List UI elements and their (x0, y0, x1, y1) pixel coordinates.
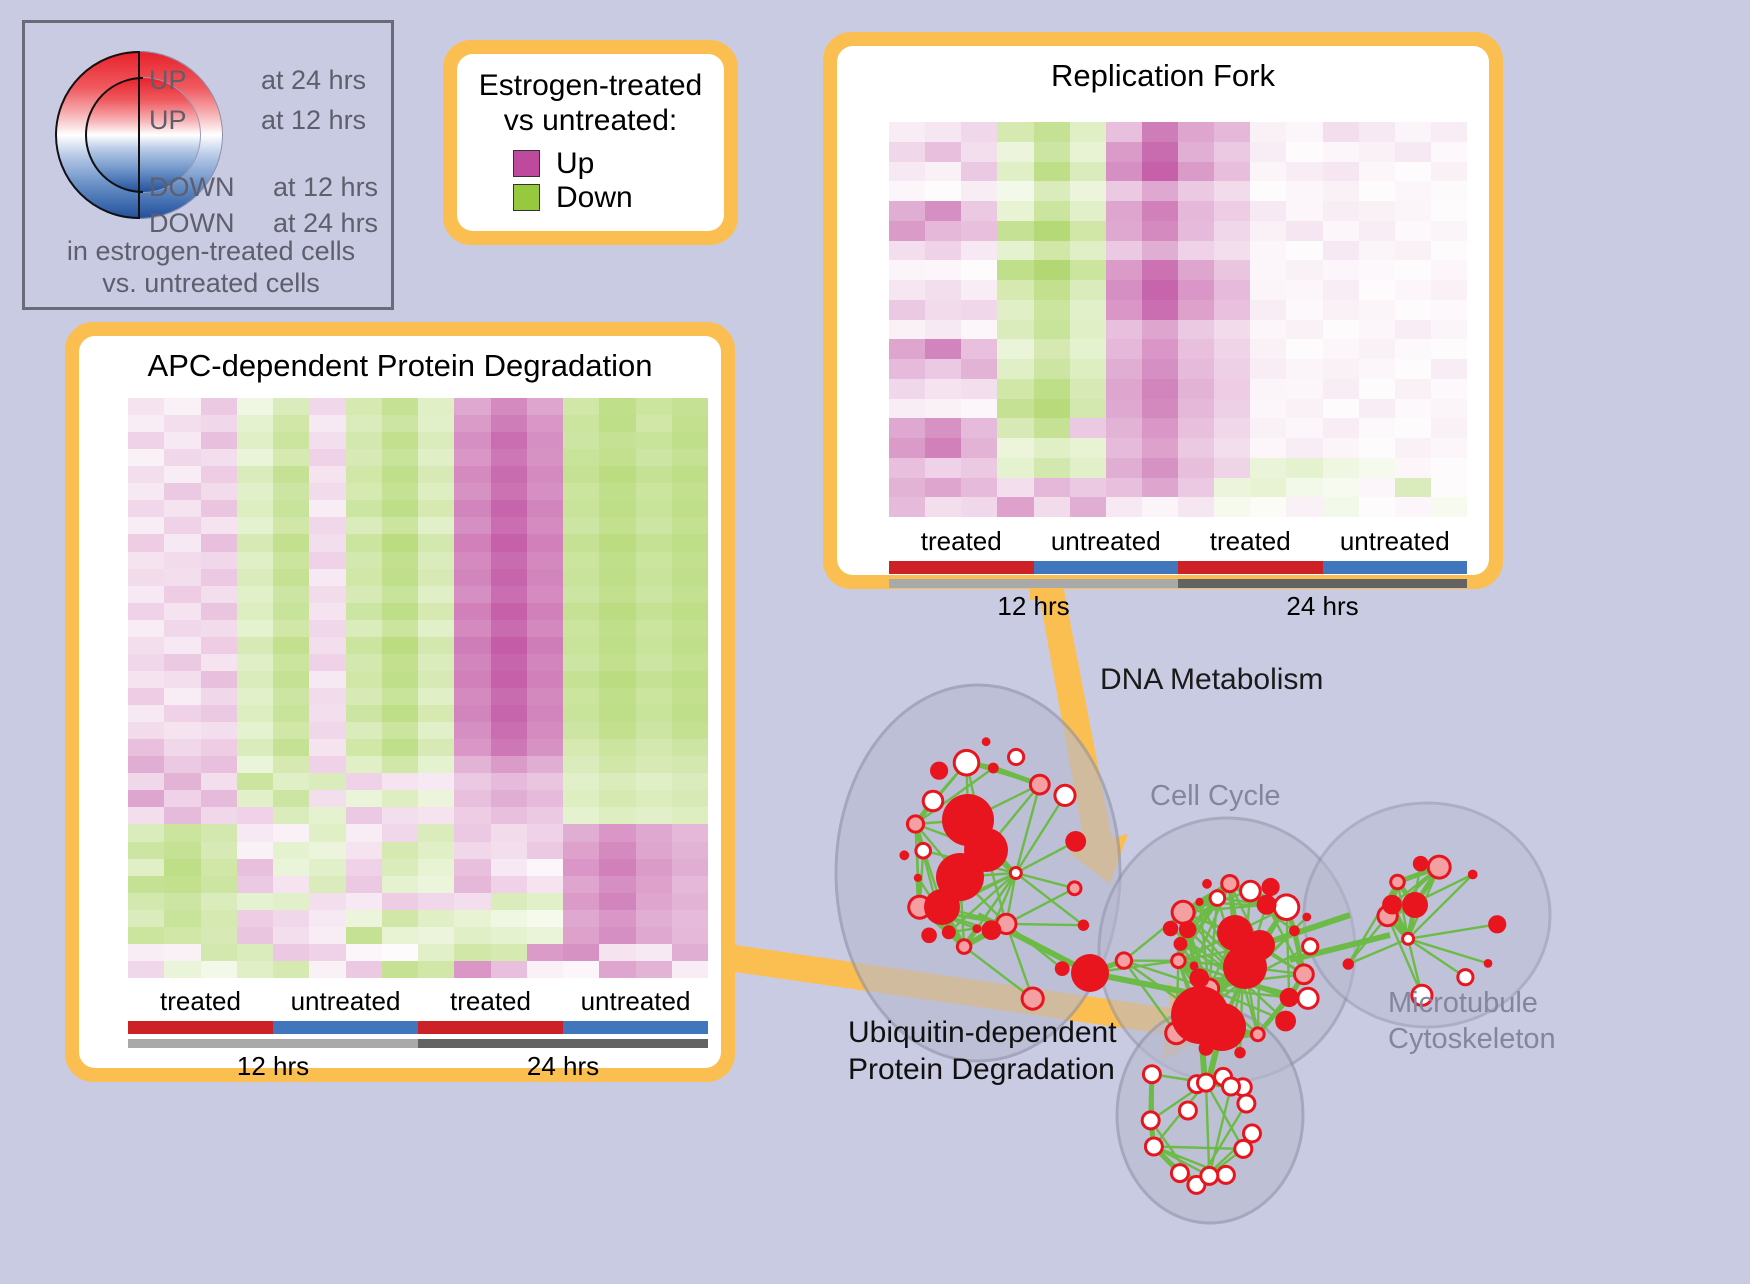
network-node-core (917, 845, 929, 857)
group-label-1: untreated (273, 986, 418, 1017)
rf-group-labels: treateduntreatedtreateduntreated (889, 526, 1467, 557)
network-node-core (956, 752, 978, 774)
time-bar-0 (128, 1039, 418, 1048)
network-node-core (1202, 1169, 1216, 1183)
cluster-label-cell-cycle: Cell Cycle (1150, 780, 1281, 813)
network-node-core (1459, 971, 1471, 983)
group-label-3: untreated (1323, 526, 1468, 557)
network-node-core (1212, 892, 1224, 904)
network-node-core (1304, 940, 1316, 952)
network-node-core (1145, 1067, 1159, 1081)
legend-title-line-1: Estrogen-treated (457, 68, 724, 103)
network-node-core (1144, 1113, 1158, 1127)
network-node (1179, 921, 1196, 938)
apc-axis: treateduntreatedtreateduntreated 12 hrs2… (128, 986, 708, 1082)
expression-legend-title: Estrogen-treated vs untreated: (457, 54, 724, 139)
network-node-core (1070, 883, 1080, 893)
network-node (921, 928, 937, 944)
treatment-bar-1 (1034, 561, 1179, 574)
legend-item-down: Down (513, 181, 724, 215)
apc-treatment-bars (128, 1021, 708, 1034)
legend-direction-up-12: UP (149, 105, 187, 136)
treatment-bar-2 (418, 1021, 563, 1034)
network-node-core (1118, 954, 1130, 966)
rf-time-bars (889, 579, 1467, 588)
cluster-label-dna-metabolism: DNA Metabolism (1100, 663, 1323, 697)
network-node (1065, 831, 1086, 852)
network-node (1484, 959, 1493, 968)
network-svg (790, 615, 1750, 1279)
treatment-bar-2 (1178, 561, 1323, 574)
group-label-2: treated (418, 986, 563, 1017)
group-label-2: treated (1178, 526, 1323, 557)
network-node (1468, 870, 1478, 880)
network-node-core (1032, 777, 1048, 793)
legend-direction-up-24: UP (149, 65, 187, 96)
replication-fork-axis: treateduntreatedtreateduntreated 12 hrs2… (889, 526, 1467, 622)
network-node-core (1253, 1029, 1263, 1039)
expression-legend-panel: Estrogen-treated vs untreated: Up Down (443, 40, 738, 245)
network-node (982, 920, 1002, 940)
microtubule-line-1: Microtubule (1388, 985, 1556, 1021)
network-node-core (1296, 966, 1312, 982)
legend-item-down-label: Down (556, 181, 633, 215)
network-node (1189, 968, 1209, 988)
group-label-3: untreated (563, 986, 708, 1017)
network-node (1302, 913, 1311, 922)
network-node (1275, 1011, 1296, 1032)
network-node-core (1024, 990, 1042, 1008)
time-label-0: 12 hrs (128, 1051, 418, 1082)
network-node-core (1010, 751, 1022, 763)
treatment-bar-1 (273, 1021, 418, 1034)
network-node (1262, 878, 1280, 896)
network-node (930, 762, 948, 780)
network-node (1257, 895, 1277, 915)
network-node (1223, 945, 1267, 989)
network-node-core (1299, 990, 1316, 1007)
network-node-core (1173, 956, 1184, 967)
network-node-core (1276, 896, 1298, 918)
expression-legend-items: Up Down (457, 147, 724, 215)
apc-heatmap (128, 398, 708, 978)
group-label-1: untreated (1034, 526, 1179, 557)
replication-fork-panel: Replication Fork treateduntreatedtreated… (823, 32, 1503, 589)
network-node-core (1219, 1168, 1233, 1182)
colorwheel-axis-line (138, 51, 140, 219)
network-node (1195, 898, 1203, 906)
treatment-bar-0 (889, 561, 1034, 574)
group-label-0: treated (889, 526, 1034, 557)
network-node-core (1245, 1126, 1259, 1140)
group-label-0: treated (128, 986, 273, 1017)
pathway-network-diagram: DNA Metabolism Cell Cycle Microtubule Cy… (790, 615, 1750, 1279)
cluster-label-microtubule: Microtubule Cytoskeleton (1388, 985, 1556, 1058)
legend-title-line-2: vs untreated: (457, 103, 724, 138)
network-node-core (1236, 1142, 1250, 1156)
apc-group-labels: treateduntreatedtreateduntreated (128, 986, 708, 1017)
apc-panel: APC-dependent Protein Degradation treate… (65, 322, 735, 1082)
network-node-core (1239, 1097, 1253, 1111)
network-node (972, 924, 981, 933)
legend-time-12-down: at 12 hrs (273, 172, 378, 203)
network-node (914, 874, 922, 882)
caption-line-2: vs. untreated cells (25, 267, 397, 299)
network-node (1382, 895, 1402, 915)
network-node-core (1181, 1104, 1195, 1118)
treatment-bar-3 (563, 1021, 708, 1034)
network-node (942, 925, 956, 939)
legend-time-12-inner: at 12 hrs (261, 105, 366, 136)
apc-time-bars (128, 1039, 708, 1048)
network-node (1163, 921, 1179, 937)
network-node (1413, 856, 1429, 872)
network-node-core (1430, 858, 1449, 877)
legend-item-up: Up (513, 147, 724, 181)
network-node-core (925, 793, 942, 810)
network-node-core (909, 817, 922, 830)
ubiquitin-line-1: Ubiquitin-dependent (848, 1015, 1117, 1052)
apc-time-labels: 12 hrs24 hrs (128, 1051, 708, 1082)
network-node (1289, 925, 1300, 936)
legend-time-24-outer: at 24 hrs (261, 65, 366, 96)
microtubule-line-2: Cytoskeleton (1388, 1021, 1556, 1057)
figure-canvas: UP at 24 hrs UP at 12 hrs DOWN at 12 hrs… (0, 0, 1750, 1279)
network-node (899, 850, 909, 860)
network-node (988, 763, 999, 774)
time-label-1: 24 hrs (418, 1051, 708, 1082)
network-node-core (1223, 877, 1236, 890)
apc-title: APC-dependent Protein Degradation (79, 336, 721, 384)
network-node (1234, 1047, 1245, 1058)
network-node (982, 737, 991, 746)
network-node (924, 889, 960, 925)
colorwheel-graphic: UP at 24 hrs UP at 12 hrs DOWN at 12 hrs… (39, 35, 389, 235)
rf-treatment-bars (889, 561, 1467, 574)
network-node-core (1199, 1076, 1213, 1090)
network-node-core (1174, 903, 1193, 922)
network-node-core (1392, 877, 1403, 888)
network-node-core (1242, 883, 1259, 900)
time-bar-1 (418, 1039, 708, 1048)
time-bar-1 (1178, 579, 1467, 588)
colorwheel-legend-box: UP at 24 hrs UP at 12 hrs DOWN at 12 hrs… (22, 20, 394, 310)
network-node (1280, 988, 1299, 1007)
caption-line-1: in estrogen-treated cells (25, 235, 397, 267)
network-node (1198, 1003, 1246, 1051)
network-node (1078, 920, 1089, 931)
treatment-bar-3 (1323, 561, 1468, 574)
replication-fork-heatmap (889, 122, 1467, 517)
network-node (1343, 958, 1354, 969)
cluster-label-ubiquitin: Ubiquitin-dependent Protein Degradation (848, 1015, 1117, 1088)
network-node-core (1224, 1080, 1238, 1094)
up-color-swatch (513, 150, 540, 177)
time-bar-0 (889, 579, 1178, 588)
ubiquitin-line-2: Protein Degradation (848, 1052, 1117, 1089)
legend-direction-down-12: DOWN (149, 172, 234, 203)
replication-fork-title: Replication Fork (837, 46, 1489, 94)
network-node (1174, 937, 1188, 951)
network-node (1071, 954, 1109, 992)
network-node-core (1147, 1140, 1161, 1154)
network-node (1202, 879, 1212, 889)
colorwheel-caption: in estrogen-treated cells vs. untreated … (25, 235, 397, 300)
network-node (1190, 961, 1199, 970)
network-node-core (959, 941, 970, 952)
network-node (1055, 961, 1070, 976)
network-node-core (1012, 869, 1020, 877)
network-node-core (1173, 1166, 1187, 1180)
network-node-core (1056, 787, 1073, 804)
down-color-swatch (513, 184, 540, 211)
network-node (1402, 892, 1428, 918)
network-node (1488, 915, 1506, 933)
treatment-bar-0 (128, 1021, 273, 1034)
legend-item-up-label: Up (556, 147, 594, 181)
network-node-core (1404, 935, 1412, 943)
